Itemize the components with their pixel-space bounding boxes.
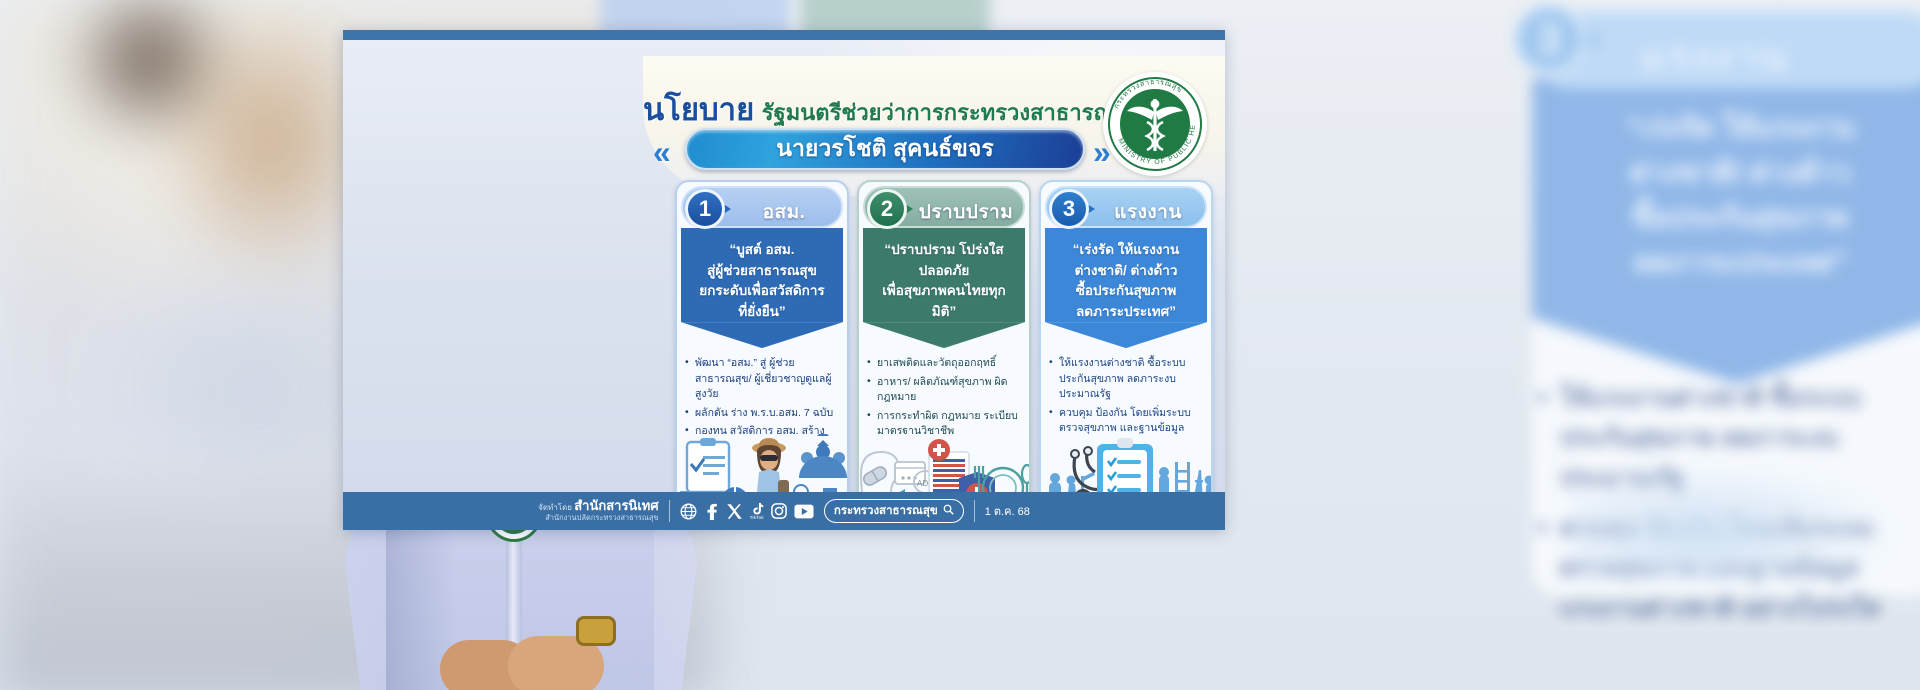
footer-credit-org: สำนักสารนิเทศ [574,498,658,513]
card-wedge [863,322,1025,348]
card-wedge [681,322,843,348]
minister-name: นายวรโชติ สุคนธ์ขจร [776,131,993,167]
footer-credit-line1: จัดทำโดย สำนักสารนิเทศ [538,499,658,514]
policy-card-osm[interactable]: 1 อสม. “บูสต์ อสม. สู่ผู้ช่วยสาธารณสุข ย… [675,180,849,520]
card-number: 3 [1049,189,1089,229]
search-pill[interactable]: กระทรวงสาธารณสุข [824,499,964,523]
card-number: 1 [685,189,725,229]
policy-card-labour[interactable]: 3 แรงงาน “เร่งรัด ให้แรงงาน ต่างชาติ/ ต่… [1039,180,1213,520]
facebook-icon[interactable] [704,503,719,520]
social-links: TikTok [680,502,814,521]
list-item: ให้แรงงานต่างชาติ ซื้อระบบประกันสุขภาพ ล… [1059,356,1203,403]
blurred-card-number: 3 [1512,2,1586,76]
wristwatch-icon [576,616,616,646]
page-title: นโยบาย รัฐมนตรีช่วยว่าการกระทรวงสาธารณสุ… [643,84,1105,134]
ministry-of-public-health-logo-icon: กระทรวงสาธารณสุข MINISTRY OF PUBLIC HEAL… [1103,72,1207,176]
blurred-card-heading: แรงงาน [1640,24,1788,88]
card-number: 2 [867,189,907,229]
card-heading: แรงงาน [1099,197,1197,227]
website-globe-icon[interactable] [680,503,697,520]
policy-card-suppression[interactable]: 2 ปราบปราม “ปราบปราม โปร่งใส ปลอดภัย เพื… [857,180,1031,520]
list-item: อาหาร/ ผลิตภัณฑ์สุขภาพ ผิดกฎหมาย [877,375,1021,406]
policy-cards: 1 อสม. “บูสต์ อสม. สู่ผู้ช่วยสาธารณสุข ย… [675,180,1215,520]
blurred-card-illustration [1570,462,1900,582]
list-item: ผลักดัน ร่าง พ.ร.บ.อสม. 7 ฉบับ [695,406,839,422]
blurred-enlarged-card-labour: “เร่งรัด ให้แรงงาน ต่างชาติ/ ต่างด้าว ซื… [1490,0,1920,618]
instagram-icon[interactable] [771,503,787,519]
minister-name-bar: นายวรโชติ สุคนธ์ขจร [685,128,1085,170]
list-item: ยาเสพติดและวัตถุออกฤทธิ์ [877,356,1021,372]
card-quote-area: “บูสต์ อสม. สู่ผู้ช่วยสาธารณสุข ยกระดับเ… [681,228,843,322]
infographic-panel-inner: นโยบาย รัฐมนตรีช่วยว่าการกระทรวงสาธารณสุ… [343,40,1225,522]
card-quote: “ปราบปราม โปร่งใส ปลอดภัย เพื่อสุขภาพคนไ… [871,240,1017,322]
card-quote-area: “เร่งรัด ให้แรงงาน ต่างชาติ/ ต่างด้าว ซื… [1045,228,1207,322]
footer-divider-2 [974,500,975,522]
card-heading: อสม. [735,197,833,227]
card-quote: “เร่งรัด ให้แรงงาน ต่างชาติ/ ต่างด้าว ซื… [1053,240,1199,322]
card-heading: ปราบปราม [917,197,1015,227]
list-item: พัฒนา “อสม.” สู่ ผู้ช่วยสาธารณสุข/ ผู้เช… [695,356,839,403]
clipboard-check-icon [687,438,729,492]
infographic-panel: นโยบาย รัฐมนตรีช่วยว่าการกระทรวงสาธารณสุ… [343,30,1225,530]
card-wedge [1045,322,1207,348]
footer-credit-prefix: จัดทำโดย [538,503,572,512]
card-header: 2 ปราบปราม [863,186,1025,228]
header: นโยบาย รัฐมนตรีช่วยว่าการกระทรวงสาธารณสุ… [643,66,1225,194]
youtube-icon[interactable] [794,504,814,519]
card-header: 1 อสม. [681,186,843,228]
tiktok-icon[interactable]: TikTok [750,502,764,521]
tiktok-label: TikTok [750,516,764,521]
search-pill-label: กระทรวงสาธารณสุข [834,502,938,520]
card-quote: “บูสต์ อสม. สู่ผู้ช่วยสาธารณสุข ยกระดับเ… [689,240,835,322]
page-title-main: นโยบาย [643,92,754,127]
search-icon [943,504,954,518]
footer-divider-1 [669,500,670,522]
footer-bar: จัดทำโดย สำนักสารนิเทศ สำนักงานปลัดกระทร… [343,492,1225,530]
blurred-card-quote: “เร่งรัด ให้แรงงาน ต่างชาติ/ ต่างด้าว ซื… [1550,106,1920,286]
card-header: 3 แรงงาน [1045,186,1207,228]
footer-credit: จัดทำโดย สำนักสารนิเทศ สำนักงานปลัดกระทร… [538,499,658,523]
x-twitter-icon[interactable] [726,503,743,520]
card-quote-area: “ปราบปราม โปร่งใส ปลอดภัย เพื่อสุขภาพคนไ… [863,228,1025,322]
chevron-left-icon: « [653,134,665,171]
publish-date: 1 ต.ค. 68 [985,502,1030,520]
footer-credit-sub: สำนักงานปลัดกระทรวงสาธารณสุข [538,514,658,523]
page-title-sub: รัฐมนตรีช่วยว่าการกระทรวงสาธารณสุข [762,100,1143,125]
